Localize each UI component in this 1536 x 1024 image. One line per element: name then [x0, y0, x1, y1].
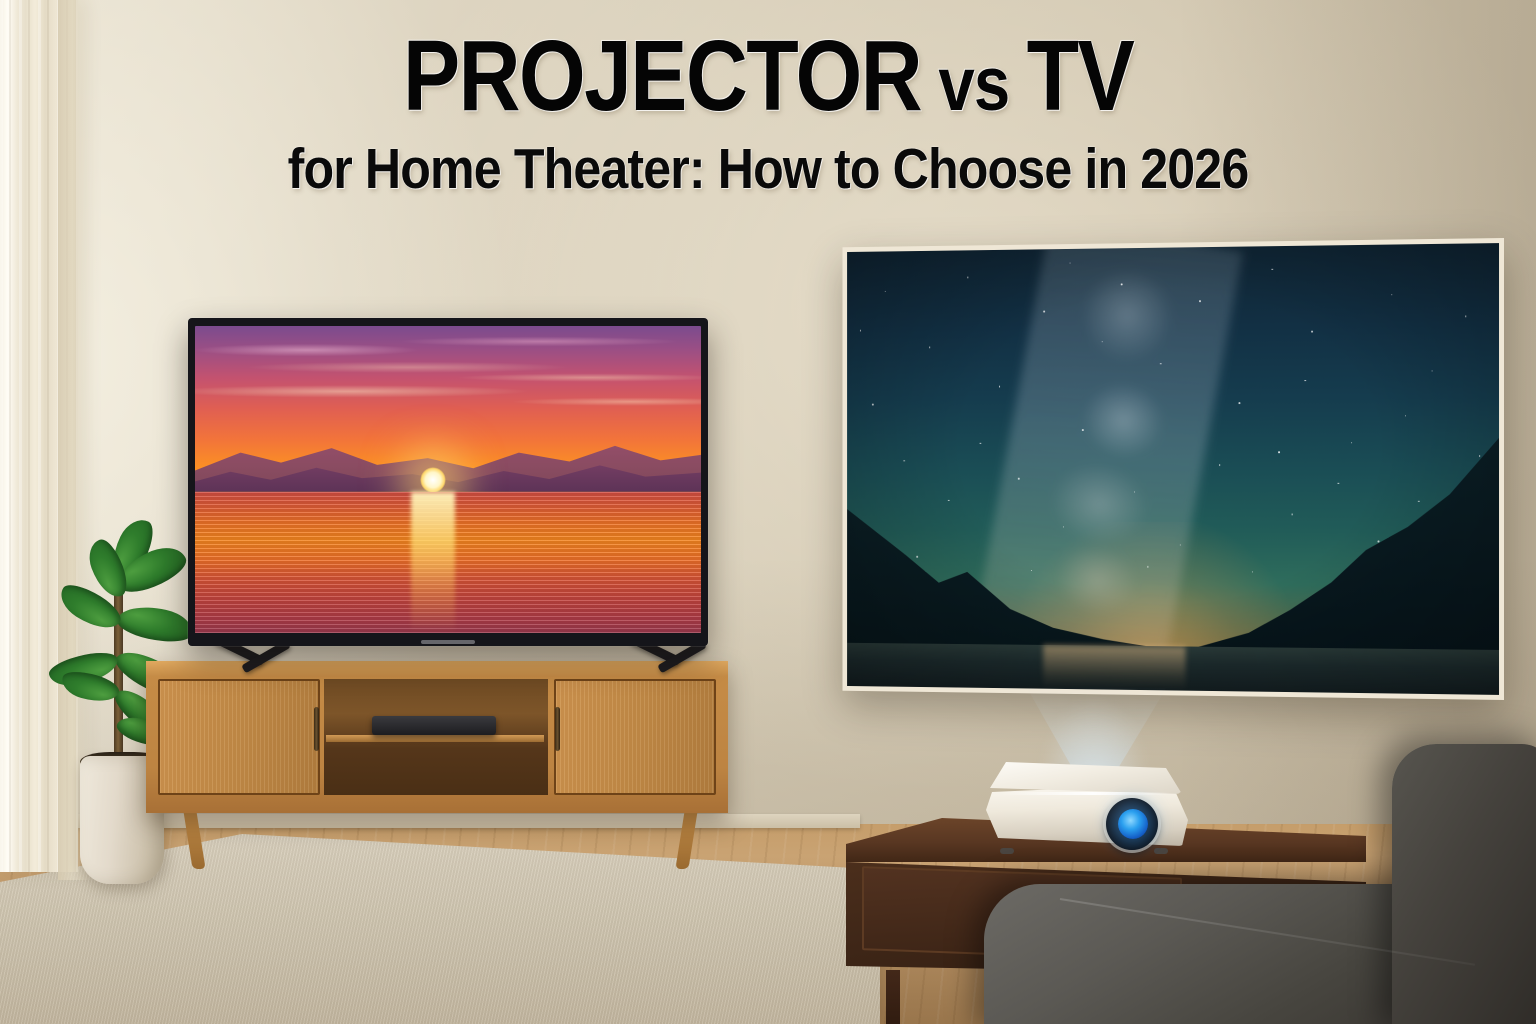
projector-lens-icon: [1118, 809, 1148, 839]
console-door-right[interactable]: [554, 679, 716, 795]
tv-console[interactable]: [146, 661, 728, 813]
tv-sun-reflection: [411, 492, 455, 633]
media-player-device[interactable]: [372, 716, 496, 735]
projection-screen[interactable]: [843, 238, 1504, 700]
projector-foot: [1000, 848, 1014, 854]
console-handle-left[interactable]: [314, 707, 319, 751]
plant-stem: [114, 576, 123, 772]
flat-screen-tv[interactable]: [188, 318, 708, 646]
tv-sun: [420, 467, 446, 493]
tv-brand-logo: [421, 640, 475, 644]
tv-screen: [195, 326, 701, 633]
projector-foot: [1154, 848, 1168, 854]
home-theater-projector[interactable]: [986, 762, 1188, 858]
plant-leaf: [59, 667, 122, 708]
ps-vignette: [847, 243, 1499, 695]
console-shelf-divider: [326, 735, 544, 742]
projector-top-panel: [990, 762, 1182, 794]
projection-screen-image: [847, 243, 1499, 695]
side-table-leg: [886, 970, 900, 1024]
home-theater-scene: PROJECTOR vs TV for Home Theater: How to…: [0, 0, 1536, 1024]
projector-highlight-line: [998, 792, 1170, 795]
console-handle-right[interactable]: [555, 707, 560, 751]
console-door-left[interactable]: [158, 679, 320, 795]
armchair-back[interactable]: [1392, 744, 1536, 1024]
console-top-surface: [146, 661, 728, 676]
plant-leaf: [115, 600, 196, 647]
